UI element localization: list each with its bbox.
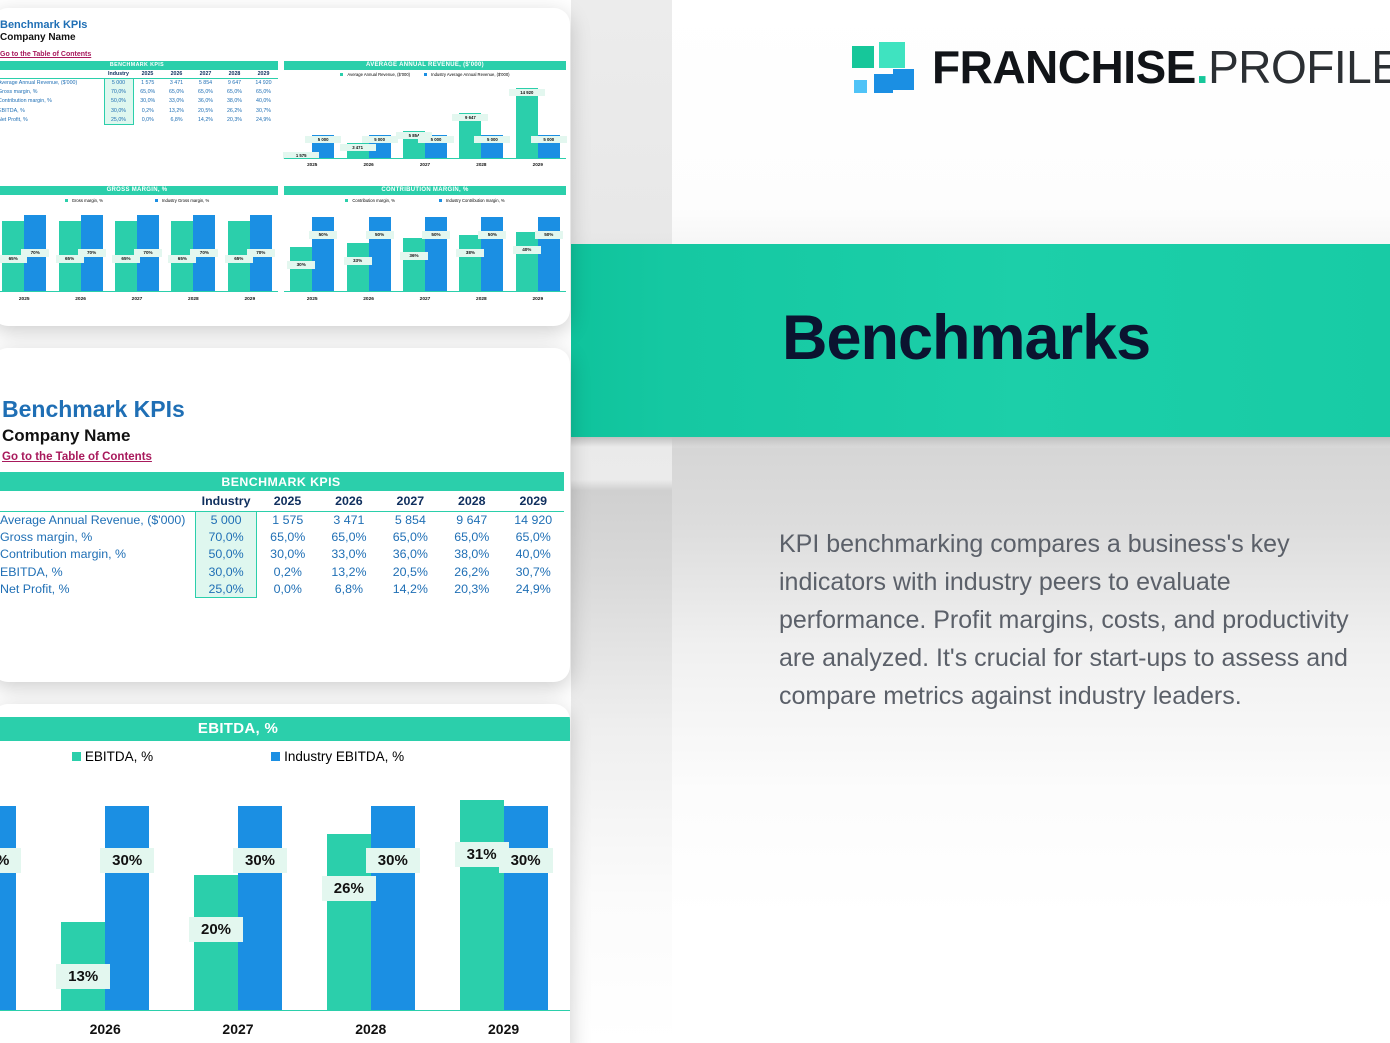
- legend-swatch-blue: [271, 752, 280, 761]
- x-axis-label: 2029: [510, 162, 566, 167]
- cell-value: 65,0%: [220, 88, 249, 97]
- row-label: EBITDA, %: [0, 106, 104, 115]
- x-axis-label: 2026: [39, 1021, 172, 1037]
- col-header: Industry: [104, 70, 133, 79]
- bar-label-series1: 9 647: [452, 114, 488, 121]
- table-row[interactable]: Gross margin, %70,0%65,0%65,0%65,0%65,0%…: [0, 88, 278, 97]
- bar-series1: [327, 834, 371, 1011]
- toc-link-mid[interactable]: Go to the Table of Contents: [2, 451, 152, 463]
- legend-item-series1: Gross margin, %: [65, 198, 103, 203]
- col-header: 2027: [191, 70, 220, 79]
- bar-series2: [312, 217, 334, 292]
- bar-series2: [425, 217, 447, 292]
- cell-value: 1 575: [257, 511, 318, 528]
- table-title-row: BENCHMARK KPIS: [0, 61, 278, 70]
- table-row[interactable]: Net Profit, %25,0%0,0%6,8%14,2%20,3%24,9…: [0, 115, 278, 124]
- cell-value: 0,2%: [257, 563, 318, 580]
- cell-value: 24,9%: [249, 115, 278, 124]
- bar-label-series1: 26%: [322, 876, 376, 901]
- chart-axis-line: [0, 291, 278, 292]
- cell-industry: 5 000: [104, 79, 133, 88]
- chart-axis-line: [284, 158, 566, 159]
- bar-series1: [516, 232, 538, 292]
- bar-label-series1: 38%: [456, 249, 484, 257]
- bar-label-series2: 70%: [134, 249, 162, 257]
- cell-value: 3 471: [162, 79, 191, 88]
- bar-label-series2: 50%: [478, 231, 506, 239]
- cell-industry: 50,0%: [104, 97, 133, 106]
- table-row[interactable]: Contribution margin, %50,0%30,0%33,0%36,…: [0, 97, 278, 106]
- bar-series2: [481, 217, 503, 292]
- chart-plot: 0%30%202513%30%202620%30%202726%30%20283…: [0, 786, 570, 1011]
- x-axis-label: 2025: [284, 297, 340, 302]
- table-row[interactable]: EBITDA, %30,0%0,2%13,2%20,5%26,2%30,7%: [0, 106, 278, 115]
- x-axis-label: 2026: [340, 297, 396, 302]
- bar-series1: [194, 875, 238, 1011]
- sheet-title-top: Benchmark KPIs: [0, 19, 570, 31]
- cell-value: 14 920: [502, 511, 564, 528]
- col-header: 2025: [257, 491, 318, 511]
- row-label: Gross margin, %: [0, 88, 104, 97]
- chart-plot: 1 5755 00020253 4715 00020265 8545 00020…: [284, 83, 566, 159]
- bar-series2: [0, 806, 16, 1011]
- cell-value: 36,0%: [380, 546, 441, 563]
- background-gray-column: [571, 0, 672, 1043]
- cell-value: 38,0%: [441, 546, 502, 563]
- bar-label-series2: 50%: [535, 231, 563, 239]
- cell-value: 20,5%: [380, 563, 441, 580]
- bar-label-series2: 50%: [309, 231, 337, 239]
- table-row[interactable]: Net Profit, %25,0%0,0%6,8%14,2%20,3%24,9…: [0, 581, 564, 598]
- cell-value: 65,0%: [318, 528, 379, 545]
- cell-value: 9 647: [220, 79, 249, 88]
- spreadsheet-card-table[interactable]: Benchmark KPIs Company Name Go to the Ta…: [0, 348, 570, 682]
- row-label: Contribution margin, %: [0, 546, 195, 563]
- x-axis-label: 2027: [397, 297, 453, 302]
- cell-value: 65,0%: [191, 88, 220, 97]
- x-axis-label: 2029: [222, 297, 278, 302]
- bar-series1: [403, 238, 425, 292]
- row-label: Average Annual Revenue, ($'000): [0, 79, 104, 88]
- bar-label-series2: 70%: [190, 249, 218, 257]
- bar-label-series2: 30%: [233, 848, 287, 873]
- table-title: BENCHMARK KPIS: [0, 472, 564, 491]
- chart-title: AVERAGE ANNUAL REVENUE, ($'000): [284, 61, 566, 70]
- legend-swatch-blue: [439, 199, 442, 202]
- brand-logo: FRANCHISE.PROFILES: [852, 42, 1390, 92]
- cell-industry: 25,0%: [195, 581, 256, 598]
- x-axis-label: 2029: [510, 297, 566, 302]
- row-label: Contribution margin, %: [0, 97, 104, 106]
- cell-value: 14,2%: [380, 581, 441, 598]
- cell-value: 24,9%: [502, 581, 564, 598]
- legend-swatch-green: [72, 752, 81, 761]
- cell-value: 0,2%: [133, 106, 162, 115]
- col-header: 2028: [220, 70, 249, 79]
- x-axis-label: 2028: [304, 1021, 437, 1037]
- x-axis-label: 2029: [437, 1021, 570, 1037]
- hero-title: Benchmarks: [782, 307, 1150, 370]
- cell-value: 65,0%: [257, 528, 318, 545]
- legend-item-series1: Contribution margin, %: [345, 198, 395, 203]
- bar-series2: [105, 806, 149, 1011]
- x-axis-label: 2027: [172, 1021, 305, 1037]
- brand-mark-icon: [852, 42, 914, 92]
- x-axis-label: 2028: [165, 297, 221, 302]
- table-header-row: Industry20252026202720282029: [0, 491, 564, 511]
- legend-swatch-blue: [424, 73, 427, 76]
- chart-title: CONTRIBUTION MARGIN, %: [284, 186, 566, 195]
- cell-value: 26,2%: [441, 563, 502, 580]
- cell-value: 1 575: [133, 79, 162, 88]
- sheet-company-mid: Company Name: [2, 426, 570, 446]
- bar-series1: [516, 88, 538, 159]
- x-axis-label: 2027: [397, 162, 453, 167]
- spreadsheet-card-overview[interactable]: Benchmark KPIs Company Name Go to the Ta…: [0, 8, 570, 326]
- col-header: 2027: [380, 491, 441, 511]
- bar-label-series1: 36%: [400, 252, 428, 260]
- legend-swatch-green: [345, 199, 348, 202]
- bar-series1: [290, 247, 312, 292]
- legend-item-series2: Industry Contribution margin, %: [439, 198, 505, 203]
- chart-plot: 30%50%202533%50%202636%50%202738%50%2028…: [284, 210, 566, 292]
- cell-industry: 70,0%: [104, 88, 133, 97]
- cell-value: 14,2%: [191, 115, 220, 124]
- x-axis-label: 2028: [453, 162, 509, 167]
- x-axis-label: 2025: [0, 297, 52, 302]
- col-header: 2028: [441, 491, 502, 511]
- cell-value: 3 471: [318, 511, 379, 528]
- x-axis-label: 2027: [109, 297, 165, 302]
- cell-value: 30,0%: [133, 97, 162, 106]
- col-header: 2025: [133, 70, 162, 79]
- cell-industry: 5 000: [195, 511, 256, 528]
- cell-value: 40,0%: [249, 97, 278, 106]
- cell-industry: 70,0%: [195, 528, 256, 545]
- legend-item-series1: EBITDA, %: [72, 749, 153, 764]
- row-label: Average Annual Revenue, ($'000): [0, 511, 195, 528]
- table-row[interactable]: EBITDA, %30,0%0,2%13,2%20,5%26,2%30,7%: [0, 563, 564, 580]
- background-white-column: [672, 0, 1390, 1043]
- bar-label-series2: 5 000: [418, 136, 454, 143]
- sheet-company-top: Company Name: [0, 32, 570, 43]
- cell-value: 65,0%: [380, 528, 441, 545]
- cell-industry: 25,0%: [104, 115, 133, 124]
- legend-item-series2: Industry EBITDA, %: [271, 749, 404, 764]
- table-title-row: BENCHMARK KPIS: [0, 472, 564, 491]
- cell-value: 38,0%: [220, 97, 249, 106]
- bar-label-series2: 5 000: [305, 136, 341, 143]
- brand-name-light: PROFILES: [1208, 41, 1390, 93]
- bar-label-series2: 30%: [100, 848, 154, 873]
- bar-label-series1: 33%: [344, 257, 372, 265]
- chart-plot: 65%70%202565%70%202665%70%202765%70%2028…: [0, 210, 278, 292]
- bar-label-series2: 30%: [499, 848, 553, 873]
- cell-value: 65,0%: [133, 88, 162, 97]
- chart-legend: Gross margin, %Industry Gross margin, %: [0, 198, 278, 203]
- bar-series1: [459, 235, 481, 292]
- chart-title: EBITDA, %: [0, 717, 570, 741]
- bar-label-series2: 30%: [366, 848, 420, 873]
- cell-value: 6,8%: [162, 115, 191, 124]
- hero-band-shadow: [571, 437, 1390, 447]
- bar-series2: [538, 217, 560, 292]
- cell-value: 13,2%: [162, 106, 191, 115]
- cell-value: 30,0%: [257, 546, 318, 563]
- sheet-title-mid: Benchmark KPIs: [2, 396, 570, 423]
- bar-label-series2: 70%: [21, 249, 49, 257]
- bar-series2: [504, 806, 548, 1011]
- row-label: Gross margin, %: [0, 528, 195, 545]
- bar-series2: [371, 806, 415, 1011]
- cell-value: 65,0%: [162, 88, 191, 97]
- cell-value: 14 920: [249, 79, 278, 88]
- table-row[interactable]: Gross margin, %70,0%65,0%65,0%65,0%65,0%…: [0, 528, 564, 545]
- bar-label-series2: 5 000: [474, 136, 510, 143]
- bar-series1: [460, 800, 504, 1011]
- legend-item-series2: Industry Gross margin, %: [155, 198, 209, 203]
- bar-label-series1: 13%: [56, 964, 110, 989]
- cell-value: 26,2%: [220, 106, 249, 115]
- chart-legend: EBITDA, %Industry EBITDA, %: [0, 749, 570, 764]
- bar-label-series2: 5 000: [531, 136, 567, 143]
- cell-value: 0,0%: [257, 581, 318, 598]
- chart-legend: Contribution margin, %Industry Contribut…: [284, 198, 566, 203]
- cell-value: 33,0%: [318, 546, 379, 563]
- legend-swatch-blue: [155, 199, 158, 202]
- bar-label-series1: 20%: [189, 917, 243, 942]
- bar-label-series2: 50%: [422, 231, 450, 239]
- legend-swatch-green: [65, 199, 68, 202]
- cell-value: 65,0%: [249, 88, 278, 97]
- table-row[interactable]: Average Annual Revenue, ($'000)5 0001 57…: [0, 511, 564, 528]
- toc-link-top[interactable]: Go to the Table of Contents: [0, 51, 91, 58]
- brand-name-dot: .: [1196, 41, 1208, 93]
- row-label: Net Profit, %: [0, 115, 104, 124]
- cell-value: 36,0%: [191, 97, 220, 106]
- col-header: 2029: [249, 70, 278, 79]
- legend-item-series2: Industry Average Annual Revenue, ($'000): [424, 72, 509, 77]
- table-title: BENCHMARK KPIS: [0, 61, 278, 70]
- x-axis-label: 2026: [52, 297, 108, 302]
- bar-label-series2: 70%: [78, 249, 106, 257]
- chart-axis-line: [0, 1010, 570, 1011]
- col-header: Industry: [195, 491, 256, 511]
- cell-value: 5 854: [380, 511, 441, 528]
- table-row[interactable]: Average Annual Revenue, ($'000)5 0001 57…: [0, 79, 278, 88]
- col-header: 2029: [502, 491, 564, 511]
- x-axis-label: 2025: [0, 1021, 39, 1037]
- cell-value: 40,0%: [502, 546, 564, 563]
- brand-name-bold: FRANCHISE: [932, 41, 1196, 93]
- bar-label-series1: 14 920: [509, 89, 545, 96]
- col-header: 2026: [318, 491, 379, 511]
- bar-label-series2: 30%: [0, 848, 21, 873]
- chart-legend: Average Annual Revenue, ($'000)Industry …: [284, 72, 566, 77]
- cell-value: 30,7%: [502, 563, 564, 580]
- x-axis-label: 2025: [284, 162, 340, 167]
- table-header-row: Industry20252026202720282029: [0, 70, 278, 79]
- spreadsheet-card-ebitda[interactable]: EBITDA, %EBITDA, %Industry EBITDA, %0%30…: [0, 704, 570, 1043]
- cell-value: 33,0%: [162, 97, 191, 106]
- cell-value: 20,3%: [220, 115, 249, 124]
- table-row[interactable]: Contribution margin, %50,0%30,0%33,0%36,…: [0, 546, 564, 563]
- cell-value: 5 854: [191, 79, 220, 88]
- cell-value: 0,0%: [133, 115, 162, 124]
- bar-series2: [369, 217, 391, 292]
- cell-value: 13,2%: [318, 563, 379, 580]
- brand-wordmark: FRANCHISE.PROFILES: [932, 44, 1390, 90]
- chart-title: GROSS MARGIN, %: [0, 186, 278, 195]
- bar-label-series1: 40%: [513, 246, 541, 254]
- bar-series1: [347, 243, 369, 292]
- cell-industry: 30,0%: [104, 106, 133, 115]
- cell-value: 20,5%: [191, 106, 220, 115]
- row-label: Net Profit, %: [0, 581, 195, 598]
- bar-label-series2: 50%: [366, 231, 394, 239]
- x-axis-label: 2026: [340, 162, 396, 167]
- bar-label-series2: 70%: [247, 249, 275, 257]
- cell-value: 65,0%: [502, 528, 564, 545]
- hero-body-text: KPI benchmarking compares a business's k…: [779, 525, 1354, 715]
- legend-item-series1: Average Annual Revenue, ($'000): [340, 72, 410, 77]
- cell-industry: 30,0%: [195, 563, 256, 580]
- chart-axis-line: [284, 291, 566, 292]
- cell-industry: 50,0%: [195, 546, 256, 563]
- bar-label-series1: 30%: [287, 261, 315, 269]
- x-axis-label: 2028: [453, 297, 509, 302]
- legend-swatch-green: [340, 73, 343, 76]
- bar-series2: [238, 806, 282, 1011]
- cell-value: 6,8%: [318, 581, 379, 598]
- cell-value: 9 647: [441, 511, 502, 528]
- cell-value: 30,7%: [249, 106, 278, 115]
- cell-value: 65,0%: [441, 528, 502, 545]
- bar-label-series2: 5 000: [362, 136, 398, 143]
- bar-label-series1: 3 471: [340, 144, 376, 151]
- row-label: EBITDA, %: [0, 563, 195, 580]
- cell-value: 20,3%: [441, 581, 502, 598]
- slide-root: FRANCHISE.PROFILES Benchmarks KPI benchm…: [0, 0, 1390, 1043]
- col-header: 2026: [162, 70, 191, 79]
